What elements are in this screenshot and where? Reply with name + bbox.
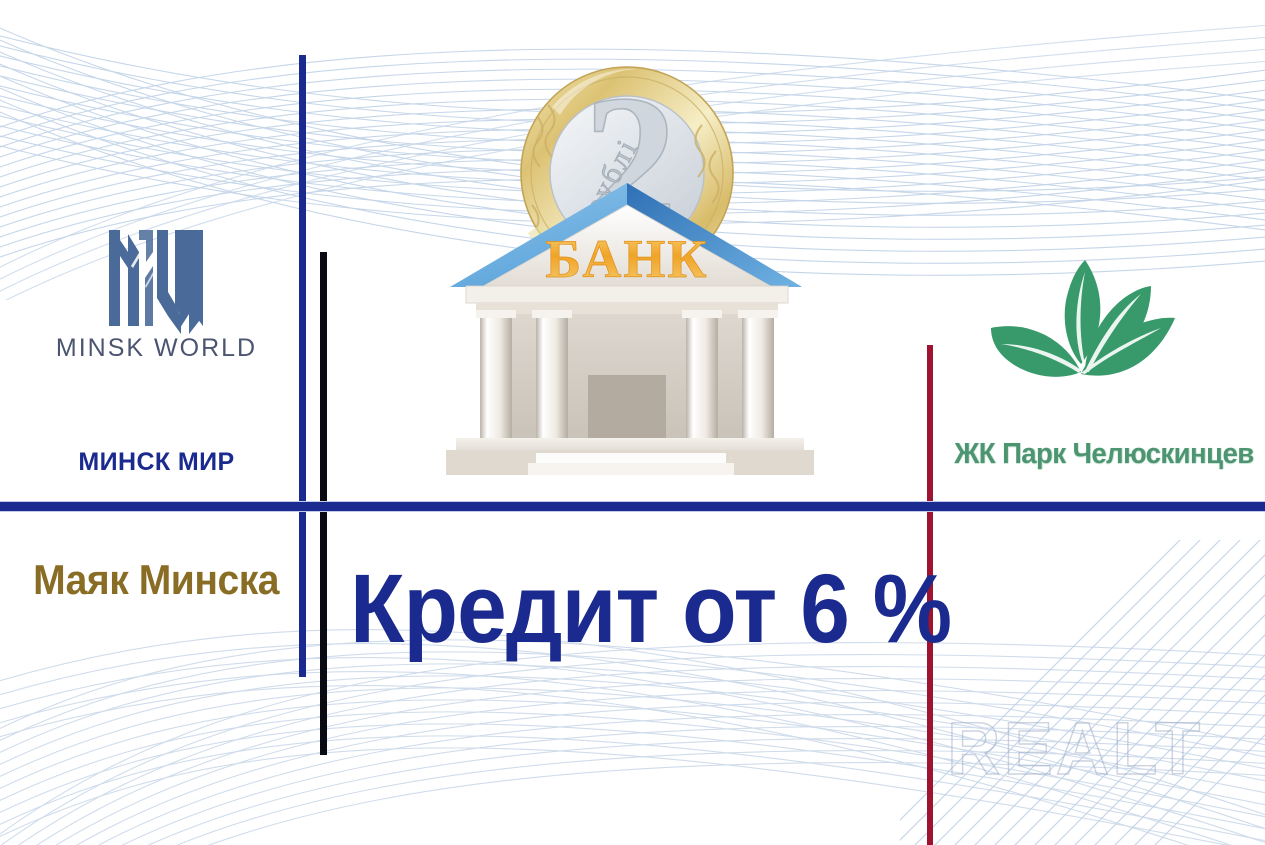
- park-cheluskintsev-brand: ЖК Парк Челюскинцев: [952, 438, 1256, 471]
- divider-horizontal-blue: [0, 501, 1265, 512]
- minsk-world-latin-brand: MINSK WORLD: [34, 334, 279, 363]
- minsk-world-mw-monogram-icon: [101, 222, 209, 334]
- bank-with-coin-illustration: 2 рублі БАНК: [420, 55, 840, 475]
- green-leaves-icon: [975, 252, 1190, 427]
- realt-watermark: REALT: [947, 706, 1203, 791]
- mayak-minska-brand: Маяк Минска: [33, 556, 275, 604]
- headline-credit-rate: Кредит от 6 %: [350, 560, 884, 657]
- divider-vertical-blue: [299, 55, 306, 677]
- minsk-world-cyrillic-brand: МИНСК МИР: [34, 448, 279, 477]
- promo-banner: MINSK WORLD МИНСК МИР Маяк Минска: [0, 0, 1265, 845]
- bank-sign-text: БАНК: [545, 229, 708, 289]
